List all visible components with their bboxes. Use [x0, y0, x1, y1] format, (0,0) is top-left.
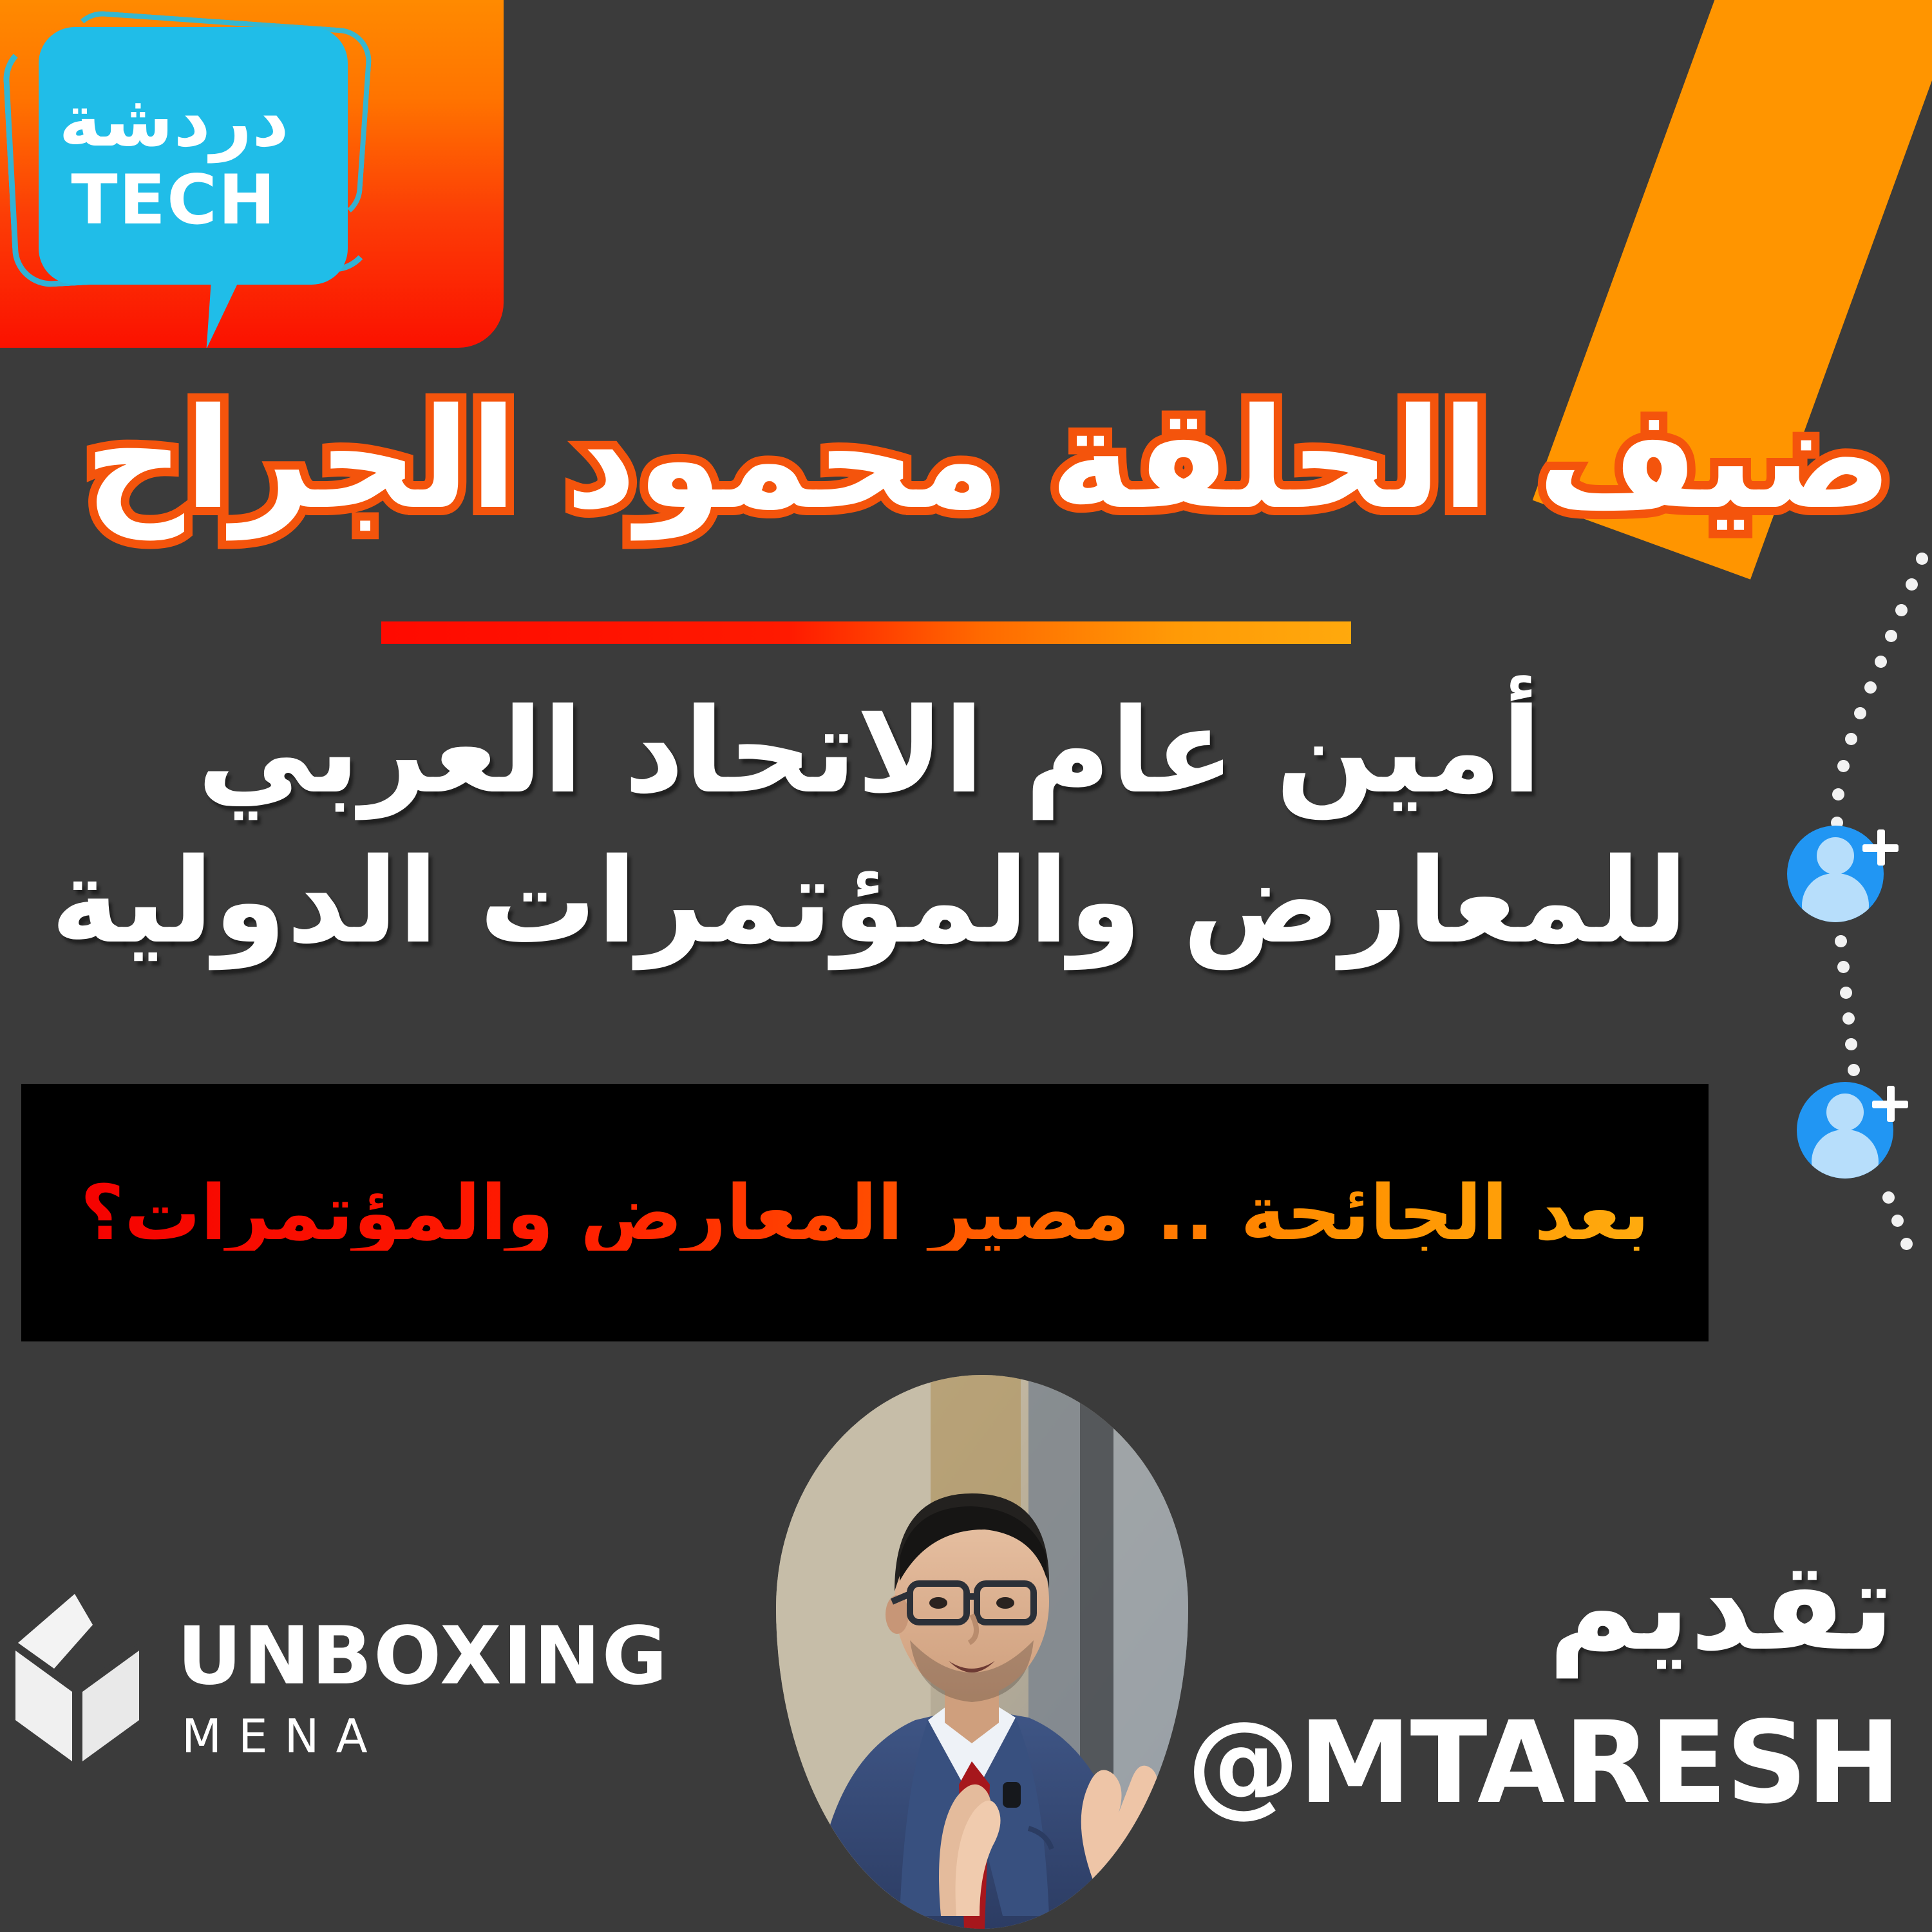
presenter-label: تقديم [1548, 1546, 1895, 1668]
subtitle-line-1: أمين عام الاتحاد العربي [197, 683, 1542, 819]
page-title: ضيف الحلقة محمود الجراح [71, 386, 1906, 532]
add-user-icon[interactable] [1797, 1082, 1901, 1186]
open-box-icon [13, 1591, 142, 1765]
plus-icon [1870, 1084, 1910, 1124]
add-user-head-shape [1817, 837, 1854, 875]
plus-icon [1861, 828, 1900, 868]
subtitle-line-2: للمعارض والمؤتمرات الدولية [0, 826, 1739, 976]
guest-role-subtitle: أمين عام الاتحاد العربي للمعارض والمؤتمر… [0, 676, 1739, 976]
add-user-body-shape [1812, 1130, 1879, 1179]
add-user-icon[interactable] [1787, 826, 1891, 930]
episode-topic-banner: بعد الجائحة .. مصير المعارض والمؤتمرات؟ [21, 1084, 1709, 1341]
producer-logo-region: MENA [182, 1713, 384, 1759]
title-underline-rule [381, 621, 1351, 644]
producer-logo[interactable]: UNBOXING MENA [13, 1591, 708, 1816]
presenter-handle[interactable]: @MTARESH [1186, 1707, 1900, 1820]
add-user-body-shape [1802, 873, 1869, 922]
episode-topic-text: بعد الجائحة .. مصير المعارض والمؤتمرات؟ [42, 1175, 1689, 1251]
episode-promo-card: دردشة TECH ضيف الحلقة محمود الجراح أمين … [0, 0, 1932, 1932]
speech-bubble-tail-icon [207, 267, 246, 348]
producer-logo-name: UNBOXING [177, 1616, 668, 1696]
decorative-dotted-path [1765, 541, 1932, 1262]
brand-logo-english-name: TECH [0, 166, 348, 234]
add-user-head-shape [1826, 1094, 1864, 1131]
brand-logo-arabic-name: دردشة [0, 85, 348, 157]
brand-logo[interactable]: دردشة TECH [0, 0, 504, 348]
guest-portrait [776, 1375, 1188, 1929]
